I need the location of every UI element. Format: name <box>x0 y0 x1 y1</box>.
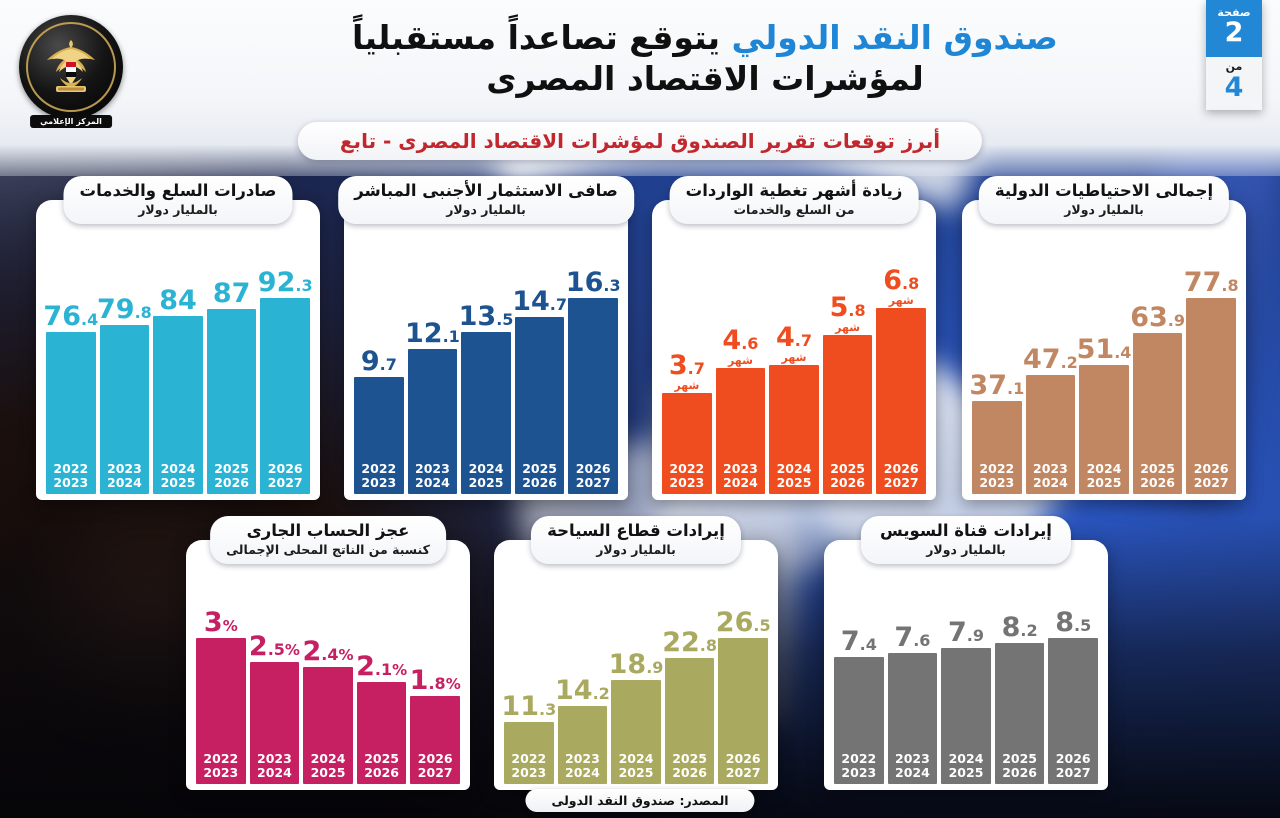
bar-value-label: 84 <box>159 287 197 314</box>
bar[interactable]: 5.8شهر20252026 <box>823 335 873 494</box>
bar-category-year: 2022 <box>662 462 712 476</box>
bar-column: 7.420222023 <box>834 592 884 784</box>
bar-category-label: 20232024 <box>408 462 458 490</box>
bar-column: 4.6شهر20232024 <box>716 262 766 494</box>
bar-value-unit: % <box>446 675 461 693</box>
page-indicator-total: من 4 <box>1206 57 1262 109</box>
bar[interactable]: 7.920242025 <box>941 648 991 784</box>
bar-value-label: 11.3 <box>501 693 556 720</box>
chart-header-suez: إيرادات قناة السويسبالمليار دولار <box>861 516 1071 564</box>
bar-category-label: 20222023 <box>196 752 246 780</box>
bar[interactable]: 47.220232024 <box>1026 375 1076 494</box>
bar-value-decimal: .4 <box>81 310 98 329</box>
bar-category-label: 20262027 <box>1186 462 1236 490</box>
bar[interactable]: 3.7شهر20222023 <box>662 393 712 494</box>
bar-column: 77.820262027 <box>1186 252 1236 494</box>
chart-title: عجز الحساب الجارى <box>226 521 430 541</box>
bar-category-year: 2025 <box>357 752 407 766</box>
bar-value-label: 4.7 <box>776 324 812 351</box>
bar-category-label: 20262027 <box>568 462 618 490</box>
chart-plot-reserves: 37.12022202347.22023202451.42024202563.9… <box>972 252 1236 494</box>
bar-category-year: 2025 <box>665 752 715 766</box>
bar-value-unit-ar: شهر <box>674 380 699 391</box>
bar-category-year: 2024 <box>888 766 938 780</box>
bar-value-integer: 22 <box>662 627 700 658</box>
bar-category-year: 2022 <box>354 462 404 476</box>
bar[interactable]: 12.120232024 <box>408 349 458 494</box>
main-title-accent: صندوق النقد الدولي <box>731 18 1057 57</box>
bar-category-label: 20242025 <box>769 462 819 490</box>
bar-category-year: 2027 <box>1048 766 1098 780</box>
bar-category-year: 2026 <box>718 752 768 766</box>
bar-value-integer: 76 <box>43 301 81 332</box>
bar-category-year: 2025 <box>941 766 991 780</box>
bar-category-year: 2023 <box>504 766 554 780</box>
bar-category-year: 2024 <box>716 476 766 490</box>
egypt-cabinet-media-center-logo: المركز الإعلامي <box>12 8 130 126</box>
bar[interactable]: 11.320222023 <box>504 722 554 784</box>
bar-value-integer: 7 <box>894 622 913 653</box>
chart-card-reserves: إجمالى الاحتياطيات الدوليةبالمليار دولار… <box>962 200 1246 500</box>
bar-group: 37.12022202347.22023202451.42024202563.9… <box>972 252 1236 494</box>
page-title: صندوق النقد الدولي يتوقع تصاعداً مستقبلي… <box>290 18 1120 100</box>
bar-column: 2.5%20232024 <box>250 592 300 784</box>
bar-value-integer: 79 <box>97 294 135 325</box>
bar[interactable]: 8720252026 <box>207 309 257 494</box>
bar-category-year: 2023 <box>888 752 938 766</box>
bar-value-unit-ar: شهر <box>835 322 860 333</box>
bar-category-label: 20232024 <box>888 752 938 780</box>
bar-value-decimal: .8 <box>135 303 152 322</box>
bar-category-label: 20262027 <box>876 462 926 490</box>
chart-card-suez: إيرادات قناة السويسبالمليار دولار7.42022… <box>824 540 1108 790</box>
bar-column: 12.120232024 <box>408 252 458 494</box>
bar-category-year: 2026 <box>995 766 1045 780</box>
bar[interactable]: 1.8%20262027 <box>410 696 460 784</box>
bar[interactable]: 14.720252026 <box>515 317 565 494</box>
bar-value-decimal: .8 <box>848 301 865 320</box>
chart-header-import-cover: زيادة أشهر تغطية الوارداتمن السلع والخدم… <box>670 176 919 224</box>
bar-value-decimal: .3 <box>539 700 556 719</box>
bar-category-year: 2025 <box>611 766 661 780</box>
bar-value-decimal: .8 <box>902 274 919 293</box>
bar-value-integer: 6 <box>883 265 902 296</box>
bar-value-label: 3.7 <box>669 352 705 379</box>
bar-value-integer: 51 <box>1077 334 1115 365</box>
bar-category-label: 20252026 <box>515 462 565 490</box>
chart-title: إيرادات قناة السويس <box>877 521 1055 541</box>
bar-category-year: 2024 <box>1026 476 1076 490</box>
bar[interactable]: 26.520262027 <box>718 638 768 784</box>
chart-header-reserves: إجمالى الاحتياطيات الدوليةبالمليار دولار <box>979 176 1229 224</box>
bar-category-year: 2023 <box>250 752 300 766</box>
bar-value-integer: 18 <box>609 649 647 680</box>
bar-category-year: 2024 <box>250 766 300 780</box>
bar-value-unit-ar: شهر <box>889 295 914 306</box>
bar-group: 7.4202220237.6202320247.9202420258.22025… <box>834 592 1098 784</box>
bar-category-label: 20222023 <box>662 462 712 490</box>
chart-card-tourism: إيرادات قطاع السياحةبالمليار دولار11.320… <box>494 540 778 790</box>
bar-category-year: 2025 <box>461 476 511 490</box>
bar-value-integer: 77 <box>1184 267 1222 298</box>
bar-value-label: 26.5 <box>716 609 771 636</box>
bar-value-decimal: .1 <box>443 327 460 346</box>
chart-title: إجمالى الاحتياطيات الدولية <box>995 181 1213 201</box>
bar-value-label: 47.2 <box>1023 346 1078 373</box>
bar-value-decimal: .2 <box>593 684 610 703</box>
bar-category-year: 2026 <box>823 476 873 490</box>
bar-category-year: 2023 <box>558 752 608 766</box>
bar-value-decimal: .8 <box>428 674 445 693</box>
bar-column: 9.720222023 <box>354 252 404 494</box>
bar-category-year: 2027 <box>410 766 460 780</box>
bar-category-year: 2023 <box>100 462 150 476</box>
bar-category-label: 20232024 <box>100 462 150 490</box>
bar-column: 8.520262027 <box>1048 592 1098 784</box>
bar[interactable]: 3%20222023 <box>196 638 246 784</box>
bar-category-label: 20242025 <box>153 462 203 490</box>
bar-value-integer: 7 <box>948 617 967 648</box>
bar-value-decimal: .6 <box>913 631 930 650</box>
bar-category-label: 20222023 <box>354 462 404 490</box>
bar-category-year: 2026 <box>1048 752 1098 766</box>
chart-plot-exports: 76.42022202379.8202320248420242025872025… <box>46 252 310 494</box>
bar-group: 9.72022202312.12023202413.52024202514.72… <box>354 252 618 494</box>
bar-value-decimal: .5 <box>753 616 770 635</box>
bar-group: 76.42022202379.8202320248420242025872025… <box>46 252 310 494</box>
bar-column: 11.320222023 <box>504 592 554 784</box>
bar-column: 4.7شهر20242025 <box>769 262 819 494</box>
bar-value-label: 92.3 <box>258 269 313 296</box>
bar-value-integer: 2 <box>249 631 268 662</box>
bar-column: 22.820252026 <box>665 592 715 784</box>
chart-subtitle: بالمليار دولار <box>354 202 618 217</box>
bar-category-year: 2026 <box>260 462 310 476</box>
chart-title: صادرات السلع والخدمات <box>79 181 276 201</box>
bar-column: 14.720252026 <box>515 252 565 494</box>
bar-category-year: 2025 <box>207 462 257 476</box>
bar[interactable]: 7.620232024 <box>888 653 938 784</box>
bar-category-label: 20242025 <box>461 462 511 490</box>
bar-category-label: 20232024 <box>558 752 608 780</box>
bar-value-decimal: .3 <box>603 276 620 295</box>
bar-category-year: 2023 <box>972 476 1022 490</box>
bar-category-year: 2025 <box>1133 462 1183 476</box>
bar-value-label: 9.7 <box>361 348 397 375</box>
bar-category-year: 2022 <box>504 752 554 766</box>
eagle-of-saladin-icon <box>42 36 100 98</box>
bar-column: 8.220252026 <box>995 592 1045 784</box>
bar-column: 3.7شهر20222023 <box>662 262 712 494</box>
bar-column: 2.4%20242025 <box>303 592 353 784</box>
bar-value-label: 63.9 <box>1130 304 1185 331</box>
bar-value-decimal: .8 <box>700 636 717 655</box>
bar-value-decimal: .4 <box>321 645 338 664</box>
bar-value-label: 12.1 <box>405 320 460 347</box>
bar[interactable]: 13.520242025 <box>461 332 511 494</box>
bar[interactable]: 92.320262027 <box>260 298 310 494</box>
bar-category-year: 2025 <box>515 462 565 476</box>
bar-category-label: 20252026 <box>1133 462 1183 490</box>
bar-value-integer: 3 <box>669 350 688 381</box>
bar-category-label: 20222023 <box>504 752 554 780</box>
bar-value-unit-ar: شهر <box>782 352 807 363</box>
bar-category-label: 20252026 <box>995 752 1045 780</box>
bar[interactable]: 8420242025 <box>153 316 203 494</box>
bar-column: 63.920252026 <box>1133 252 1183 494</box>
logo-disc <box>19 15 123 119</box>
bar-category-year: 2024 <box>408 476 458 490</box>
bar-category-year: 2024 <box>558 766 608 780</box>
bar[interactable]: 2.1%20252026 <box>357 682 407 784</box>
bar-category-year: 2025 <box>303 766 353 780</box>
bar-column: 1.8%20262027 <box>410 592 460 784</box>
bar-value-decimal: .7 <box>688 359 705 378</box>
bar[interactable]: 4.6شهر20232024 <box>716 368 766 494</box>
bar-column: 16.320262027 <box>568 252 618 494</box>
bar-category-year: 2024 <box>303 752 353 766</box>
bar-category-label: 20252026 <box>207 462 257 490</box>
bar-category-year: 2025 <box>153 476 203 490</box>
bar-value-decimal: .8 <box>1221 276 1238 295</box>
page-indicator: صفحة 2 من 4 <box>1206 0 1262 110</box>
chart-plot-fdi: 9.72022202312.12023202413.52024202514.72… <box>354 252 618 494</box>
bar-category-label: 20262027 <box>260 462 310 490</box>
bar[interactable]: 9.720222023 <box>354 377 404 494</box>
bar-category-year: 2026 <box>1186 462 1236 476</box>
bar-column: 13.520242025 <box>461 252 511 494</box>
bar[interactable]: 14.220232024 <box>558 706 608 784</box>
chart-card-import-cover: زيادة أشهر تغطية الوارداتمن السلع والخدم… <box>652 200 936 500</box>
bar-column: 7.920242025 <box>941 592 991 784</box>
chart-header-tourism: إيرادات قطاع السياحةبالمليار دولار <box>531 516 741 564</box>
bar-category-year: 2025 <box>823 462 873 476</box>
bar-value-integer: 13 <box>459 301 497 332</box>
bar-value-decimal: .7 <box>795 331 812 350</box>
bar-category-year: 2025 <box>995 752 1045 766</box>
bar-value-unit: % <box>392 661 407 679</box>
main-title: صندوق النقد الدولي يتوقع تصاعداً مستقبلي… <box>290 18 1120 100</box>
bar[interactable]: 51.420242025 <box>1079 365 1129 494</box>
chart-subtitle: كنسبة من الناتج المحلى الإجمالى <box>226 542 430 557</box>
bar-value-integer: 7 <box>841 626 860 657</box>
page-header: المركز الإعلامي صندوق النقد الدولي يتوقع… <box>0 0 1280 176</box>
bar-value-decimal: .5 <box>268 640 285 659</box>
bar-value-decimal: .2 <box>1061 353 1078 372</box>
bar-value-decimal: .1 <box>375 660 392 679</box>
bar-value-decimal: .7 <box>380 355 397 374</box>
bar-value-integer: 5 <box>830 292 849 323</box>
bar-column: 26.520262027 <box>718 592 768 784</box>
bar-value-label: 2.4% <box>302 638 353 665</box>
bar-value-integer: 12 <box>405 318 443 349</box>
bar-category-year: 2022 <box>972 462 1022 476</box>
bar[interactable]: 7.420222023 <box>834 657 884 784</box>
bar-value-label: 7.4 <box>841 628 877 655</box>
bar-value-unit: % <box>223 617 238 635</box>
bar[interactable]: 37.120222023 <box>972 401 1022 494</box>
bar-value-decimal: .5 <box>496 310 513 329</box>
bar-value-label: 3% <box>204 609 238 636</box>
bar-value-integer: 11 <box>501 691 539 722</box>
bar[interactable]: 76.420222023 <box>46 332 96 494</box>
bar[interactable]: 4.7شهر20242025 <box>769 365 819 494</box>
bar-column: 7.620232024 <box>888 592 938 784</box>
bar-value-integer: 16 <box>566 267 604 298</box>
bar-column: 92.320262027 <box>260 252 310 494</box>
bar-value-integer: 9 <box>361 346 380 377</box>
chart-card-current-account-deficit: عجز الحساب الجارىكنسبة من الناتج المحلى … <box>186 540 470 790</box>
bar-category-year: 2026 <box>515 476 565 490</box>
bar-column: 76.420222023 <box>46 252 96 494</box>
bar-category-year: 2026 <box>207 476 257 490</box>
bar-category-year: 2023 <box>716 462 766 476</box>
bar[interactable]: 77.820262027 <box>1186 298 1236 494</box>
bar-category-year: 2026 <box>876 462 926 476</box>
bar-category-label: 20262027 <box>718 752 768 780</box>
bar-category-year: 2027 <box>718 766 768 780</box>
bar-column: 18.920242025 <box>611 592 661 784</box>
bar-value-integer: 92 <box>258 267 296 298</box>
bar-category-year: 2023 <box>354 476 404 490</box>
chart-plot-suez: 7.4202220237.6202320247.9202420258.22025… <box>834 592 1098 784</box>
page-number: 2 <box>1206 19 1262 47</box>
bar-category-label: 20232024 <box>716 462 766 490</box>
bar-category-year: 2023 <box>662 476 712 490</box>
bar-value-integer: 47 <box>1023 344 1061 375</box>
bar-category-year: 2023 <box>196 766 246 780</box>
bar-value-label: 14.7 <box>512 288 567 315</box>
bar-category-year: 2024 <box>769 462 819 476</box>
bar[interactable]: 16.320262027 <box>568 298 618 494</box>
bar-value-decimal: .3 <box>295 276 312 295</box>
bar-category-label: 20262027 <box>410 752 460 780</box>
bar[interactable]: 8.520262027 <box>1048 638 1098 784</box>
bar-value-integer: 14 <box>555 675 593 706</box>
bar[interactable]: 2.5%20232024 <box>250 662 300 784</box>
chart-plot-current-account-deficit: 3%202220232.5%202320242.4%202420252.1%20… <box>196 592 460 784</box>
bar-value-label: 1.8% <box>410 667 461 694</box>
bar-value-decimal: .4 <box>1114 343 1131 362</box>
chart-subtitle: بالمليار دولار <box>877 542 1055 557</box>
bar-value-label: 37.1 <box>969 372 1024 399</box>
bar[interactable]: 79.820232024 <box>100 325 150 494</box>
bar-category-year: 2027 <box>568 476 618 490</box>
bar-value-label: 79.8 <box>97 296 152 323</box>
chart-title: إيرادات قطاع السياحة <box>547 521 725 541</box>
bar-category-year: 2023 <box>834 766 884 780</box>
bar-value-unit: % <box>339 646 354 664</box>
bar-category-year: 2025 <box>769 476 819 490</box>
chart-header-fdi: صافى الاستثمار الأجنبى المباشربالمليار د… <box>338 176 634 224</box>
bar[interactable]: 6.8شهر20262027 <box>876 308 926 494</box>
bar-value-integer: 14 <box>512 286 550 317</box>
bar-category-year: 2022 <box>46 462 96 476</box>
bar-value-label: 87 <box>213 280 251 307</box>
bar-column: 51.420242025 <box>1079 252 1129 494</box>
bar[interactable]: 2.4%20242025 <box>303 667 353 784</box>
bar-value-decimal: .5 <box>1074 616 1091 635</box>
bar-column: 47.220232024 <box>1026 252 1076 494</box>
bar-category-year: 2024 <box>153 462 203 476</box>
chart-subtitle: من السلع والخدمات <box>686 202 903 217</box>
bar-value-integer: 8 <box>1002 612 1021 643</box>
bar-group: 3.7شهر202220234.6شهر202320244.7شهر202420… <box>662 262 926 494</box>
bar-category-year: 2026 <box>357 766 407 780</box>
bar-column: 3%20222023 <box>196 592 246 784</box>
bar-category-year: 2022 <box>196 752 246 766</box>
bar-category-label: 20242025 <box>941 752 991 780</box>
bar-value-integer: 2 <box>356 651 375 682</box>
bar-category-year: 2023 <box>1026 462 1076 476</box>
bar-value-decimal: .4 <box>860 635 877 654</box>
chart-title: صافى الاستثمار الأجنبى المباشر <box>354 181 618 201</box>
page-total: 4 <box>1206 74 1262 102</box>
bar-value-label: 51.4 <box>1077 336 1132 363</box>
bar-category-year: 2024 <box>611 752 661 766</box>
bar[interactable]: 22.820252026 <box>665 658 715 784</box>
bar-value-integer: 63 <box>1130 302 1168 333</box>
bar-category-label: 20242025 <box>303 752 353 780</box>
bar-column: 2.1%20252026 <box>357 592 407 784</box>
bar-category-year: 2024 <box>100 476 150 490</box>
chart-subtitle: بالمليار دولار <box>547 542 725 557</box>
chart-header-exports: صادرات السلع والخدماتبالمليار دولار <box>63 176 292 224</box>
chart-plot-import-cover: 3.7شهر202220234.6شهر202320244.7شهر202420… <box>662 262 926 494</box>
bar-value-decimal: .2 <box>1020 621 1037 640</box>
bar-value-label: 7.9 <box>948 619 984 646</box>
bar[interactable]: 8.220252026 <box>995 643 1045 784</box>
bar-value-unit: % <box>285 641 300 659</box>
bar-value-decimal: .7 <box>550 295 567 314</box>
bar-column: 37.120222023 <box>972 252 1022 494</box>
bar-value-label: 6.8 <box>883 267 919 294</box>
page-indicator-current: صفحة 2 <box>1206 0 1262 57</box>
chart-subtitle: بالمليار دولار <box>79 202 276 217</box>
bar-group: 11.32022202314.22023202418.92024202522.8… <box>504 592 768 784</box>
bar-category-label: 20252026 <box>823 462 873 490</box>
bar-category-year: 2026 <box>568 462 618 476</box>
chart-card-fdi: صافى الاستثمار الأجنبى المباشربالمليار د… <box>344 200 628 500</box>
bar-category-label: 20222023 <box>834 752 884 780</box>
bar[interactable]: 18.920242025 <box>611 680 661 784</box>
bar-category-year: 2024 <box>461 462 511 476</box>
bar-category-label: 20222023 <box>46 462 96 490</box>
bar-value-integer: 2 <box>302 636 321 667</box>
bar-value-label: 77.8 <box>1184 269 1239 296</box>
bar-category-year: 2027 <box>1186 476 1236 490</box>
bar-column: 8420242025 <box>153 252 203 494</box>
bar-category-label: 20252026 <box>665 752 715 780</box>
logo-band-label: المركز الإعلامي <box>30 115 112 128</box>
bar-category-year: 2027 <box>876 476 926 490</box>
bar-category-label: 20252026 <box>357 752 407 780</box>
bar-value-label: 14.2 <box>555 677 610 704</box>
bar-category-year: 2027 <box>260 476 310 490</box>
bar-value-label: 8.5 <box>1055 609 1091 636</box>
bar[interactable]: 63.920252026 <box>1133 333 1183 494</box>
bar-column: 14.220232024 <box>558 592 608 784</box>
bar-category-year: 2022 <box>834 752 884 766</box>
bar-category-label: 20242025 <box>611 752 661 780</box>
bar-category-label: 20232024 <box>250 752 300 780</box>
bar-column: 8720252026 <box>207 252 257 494</box>
bar-value-unit-ar: شهر <box>728 355 753 366</box>
chart-plot-tourism: 11.32022202314.22023202418.92024202522.8… <box>504 592 768 784</box>
source-note: المصدر: صندوق النقد الدولى <box>525 789 754 812</box>
bar-group: 3%202220232.5%202320242.4%202420252.1%20… <box>196 592 460 784</box>
bar-column: 79.820232024 <box>100 252 150 494</box>
